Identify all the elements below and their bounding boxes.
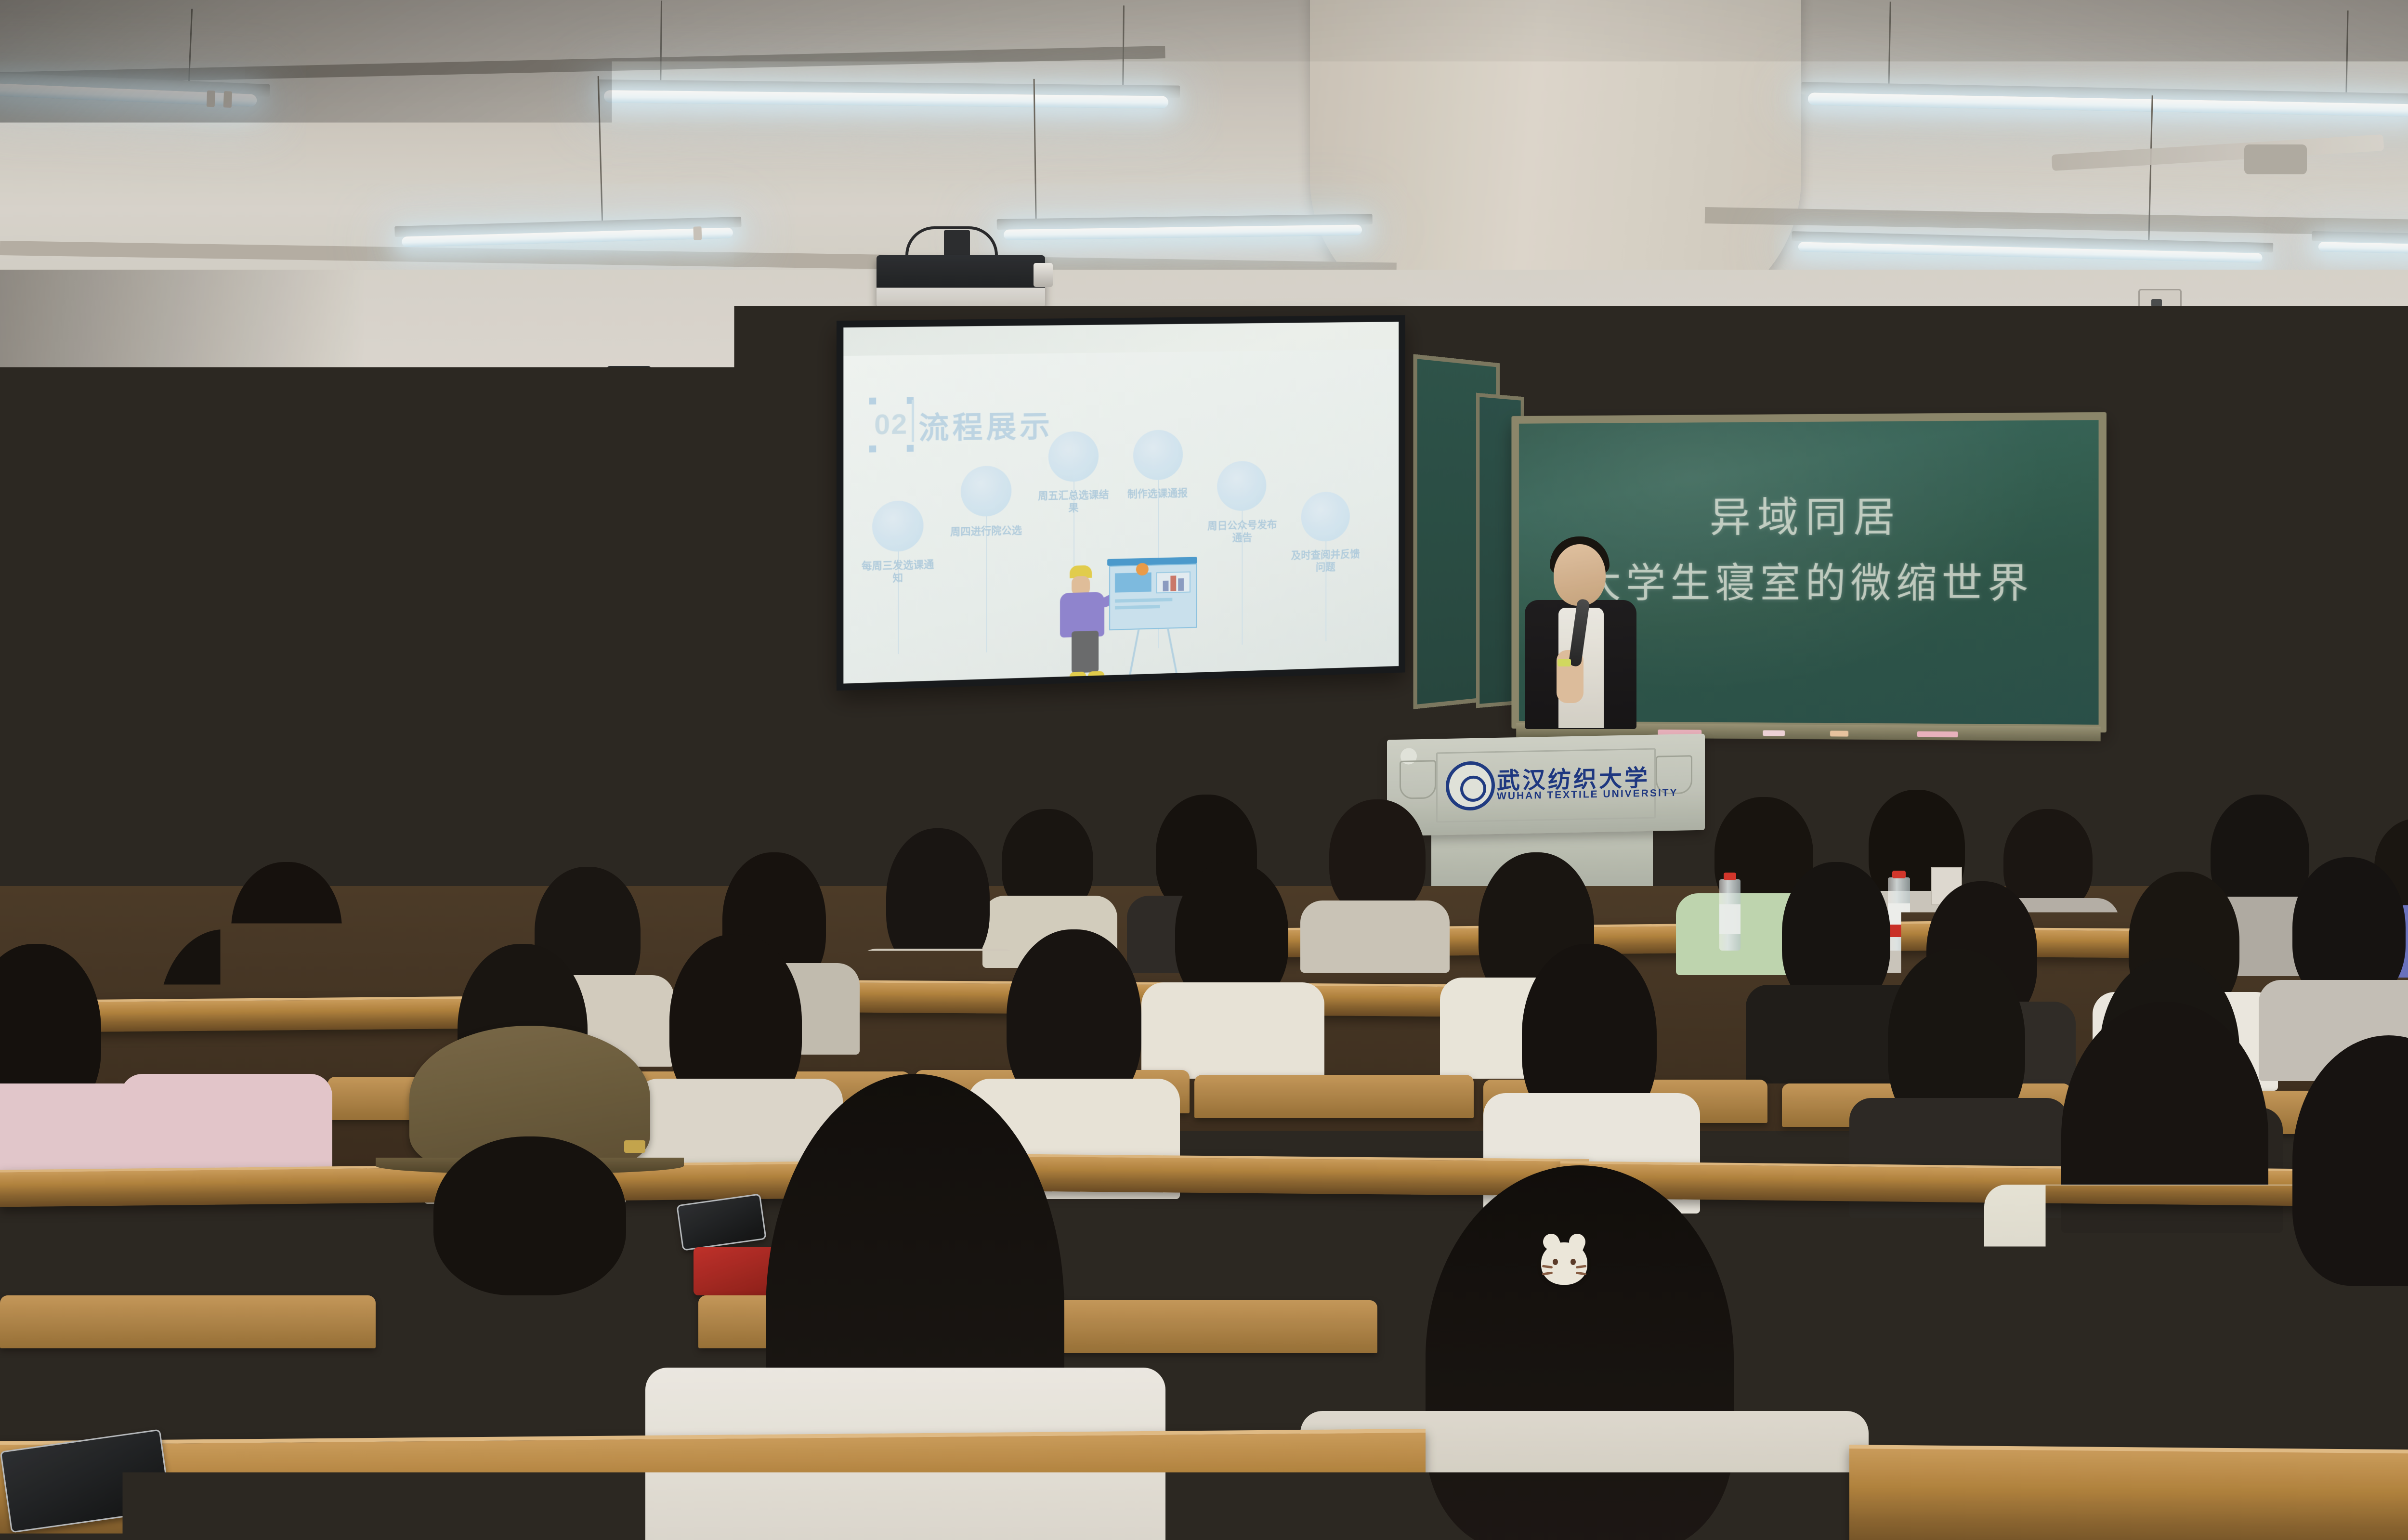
foreground-desk [0,1429,1426,1540]
slide-title: 流程展示 [918,402,1053,447]
ceiling-light-2 [597,79,1180,115]
timeline-label-5: 周日公众号发布通告 [1207,519,1278,546]
foreground-desk-right [1849,1445,2408,1540]
fire-standpipe [2336,318,2356,896]
timeline-dot-4 [1133,430,1183,481]
ceiling-light-4 [997,214,1373,245]
wall-speaker-left [708,371,793,490]
slide-illustration-person [1053,565,1111,684]
timeline-label-4: 制作选课通报 [1122,487,1193,501]
wall-speaker-right [2230,378,2312,494]
bag-on-lectern [429,626,520,679]
water-bottle-2 [1888,877,1910,951]
electrical-breaker-panel[interactable]: 有电危险 [397,500,495,640]
bench-back-3e [1194,1075,1474,1118]
wristband [1557,659,1571,666]
lecture-hall-photo: 有电危险 10 9 8 [0,0,2408,1540]
slide-illustration-easel [1107,557,1197,683]
student-torso-fg-far-right [1984,1185,2331,1387]
student-torso-r2-4 [855,949,1023,1045]
timeline-dot-5 [1217,461,1266,511]
motion-sensor [2138,289,2182,321]
timeline-dot-6 [1301,491,1350,542]
timeline-dot-3 [1048,431,1099,482]
security-camera [607,366,651,396]
timeline-label-3: 周五汇总选课结果 [1037,489,1110,516]
door-handle[interactable] [5,758,17,802]
student-head-r1-3 [1329,799,1426,915]
warning-triangle-icon [421,564,428,572]
ceiling-fan-motor [2244,144,2307,174]
timeline-label-1: 每周三发选课通知 [861,559,935,586]
hello-kitty-hair-clip [1541,1242,1587,1285]
student-torso-r2-5 [1141,982,1324,1079]
student-torso-r1-3 [1300,901,1450,973]
timeline-label-6: 及时查阅并反馈问题 [1290,548,1361,575]
timeline-dot-2 [961,465,1011,517]
bench-back-5c [1040,1300,1377,1353]
wall-notice-paper [293,549,365,606]
student-head-r4-capwearer [433,1136,626,1295]
water-bottle-1 [1719,879,1741,951]
slide-surface: 02 流程展示 每周三发选课通知 周四进行院公选 周五汇总选课结果 制作选课通报… [843,322,1399,683]
slide-number: 02 [874,408,908,441]
ceiling-projector[interactable] [877,255,1045,307]
projector-lens [1034,263,1053,287]
timeline-label-2: 周四进行院公选 [950,524,1023,539]
notebook-edge-left [600,1315,724,1381]
timeline-dot-1 [872,500,923,552]
danger-electricity-label: 有电危险 [417,558,471,578]
danger-label-text: 有电危险 [429,563,459,574]
slide-content: 02 流程展示 每周三发选课通知 周四进行院公选 周五汇总选课结果 制作选课通报… [843,349,1399,683]
bench-back-5a [0,1295,376,1348]
presenter-speaker [1512,535,1657,727]
projection-screen[interactable]: 02 流程展示 每周三发选课通知 周四进行院公选 周五汇总选课结果 制作选课通报… [837,315,1405,691]
